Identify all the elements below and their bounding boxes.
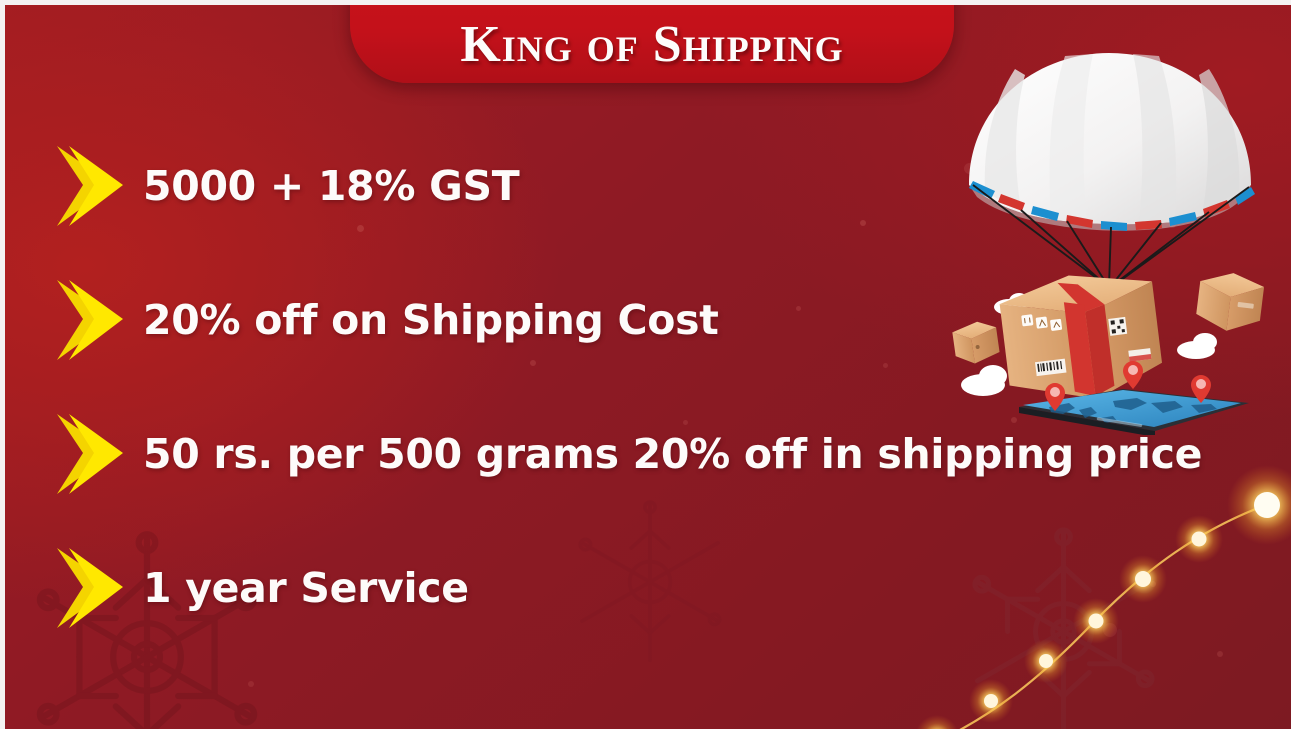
- list-item: 1 year Service: [53, 557, 1233, 619]
- double-chevron-icon: [53, 277, 127, 363]
- promotional-banner: King of Shipping 5000 + 18% GST 20% off …: [0, 0, 1291, 729]
- page-title: King of Shipping: [460, 18, 843, 73]
- offer-text: 50 rs. per 500 grams 20% off in shipping…: [143, 430, 1202, 478]
- double-chevron-icon: [53, 411, 127, 497]
- decor-dot: [1001, 97, 1009, 105]
- offer-text: 5000 + 18% GST: [143, 162, 519, 210]
- banner-title-pill: King of Shipping: [350, 0, 954, 83]
- offer-text: 20% off on Shipping Cost: [143, 296, 719, 344]
- double-chevron-icon: [53, 143, 127, 229]
- offers-list: 5000 + 18% GST 20% off on Shipping Cost …: [53, 155, 1233, 691]
- list-item: 20% off on Shipping Cost: [53, 289, 1233, 351]
- double-chevron-icon: [53, 545, 127, 631]
- list-item: 5000 + 18% GST: [53, 155, 1233, 217]
- offer-text: 1 year Service: [143, 564, 469, 612]
- list-item: 50 rs. per 500 grams 20% off in shipping…: [53, 423, 1233, 485]
